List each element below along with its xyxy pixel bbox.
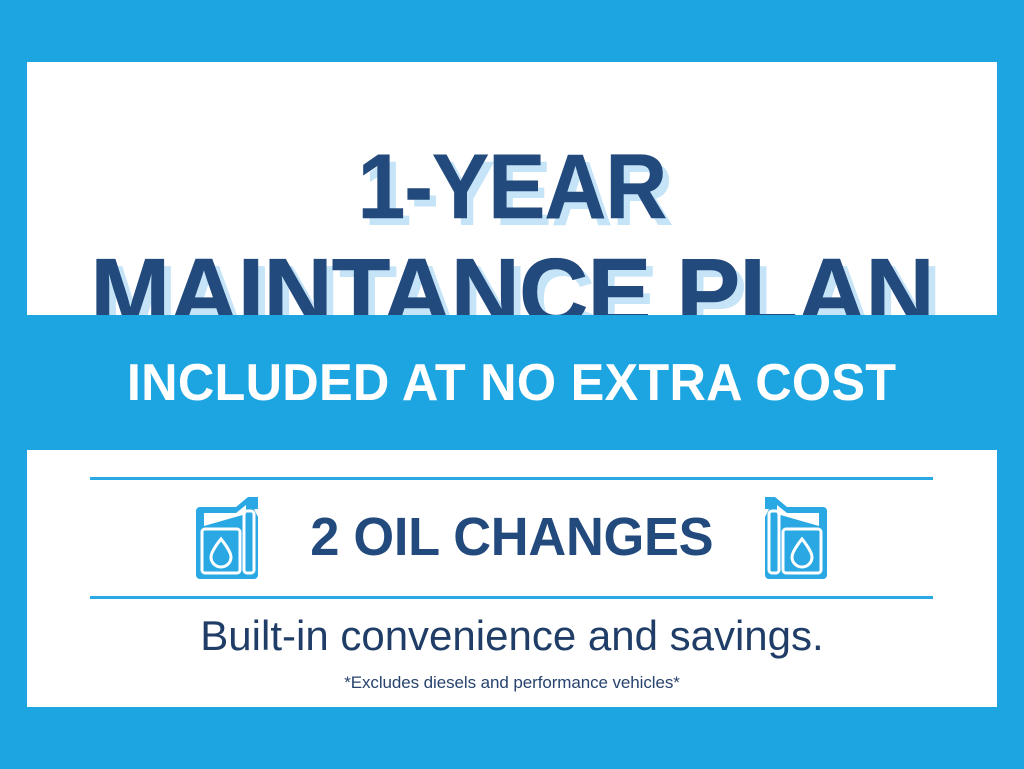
divider-bottom: [90, 596, 933, 599]
oil-jug-icon: [192, 491, 266, 583]
oil-jug-icon: [757, 491, 831, 583]
divider-top: [90, 477, 933, 480]
subtitle-text: INCLUDED AT NO EXTRA COST: [127, 353, 896, 413]
title-card: 1-YEAR MAINTANCE PLAN: [27, 62, 997, 315]
tagline-text: Built-in convenience and savings.: [0, 612, 1024, 660]
fine-print-text: *Excludes diesels and performance vehicl…: [0, 673, 1024, 693]
benefit-row: 2 OIL CHANGES: [90, 487, 933, 587]
headline-line-1: 1-YEAR: [61, 144, 963, 230]
benefit-label: 2 OIL CHANGES: [310, 506, 713, 568]
subtitle-band: INCLUDED AT NO EXTRA COST: [0, 315, 1024, 450]
promo-poster: 1-YEAR MAINTANCE PLAN INCLUDED AT NO EXT…: [0, 0, 1024, 769]
